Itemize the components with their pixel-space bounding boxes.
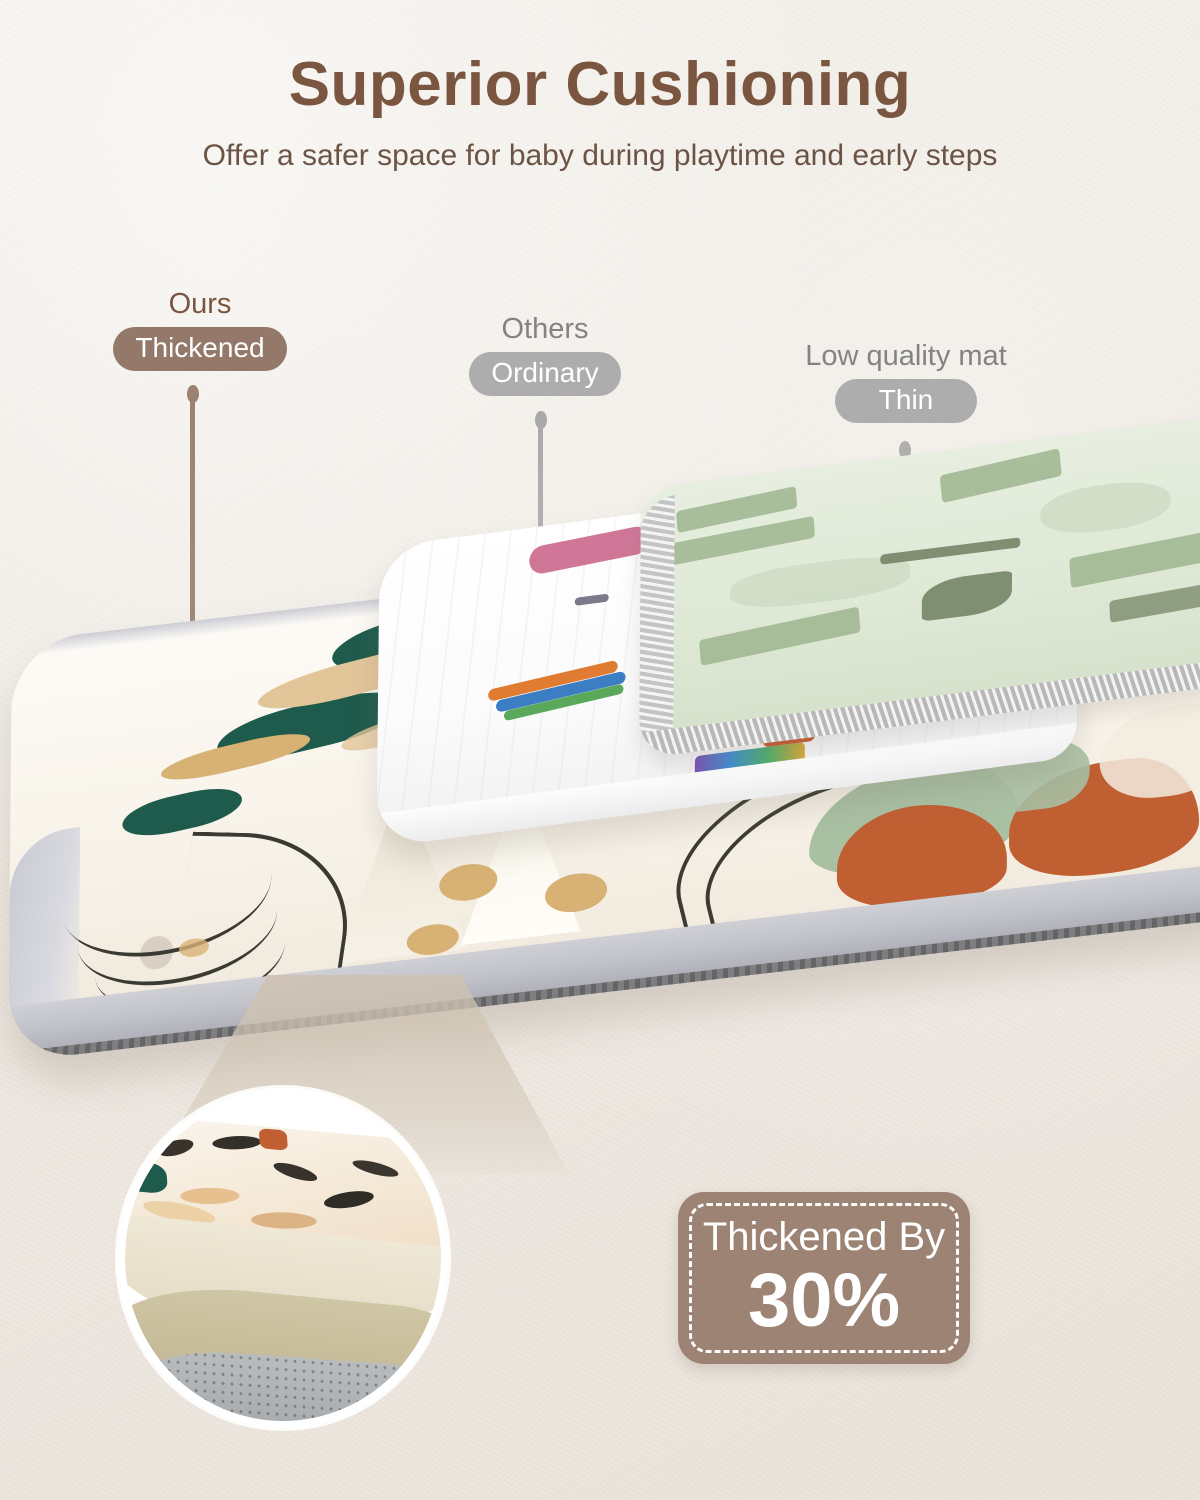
inset-circle-content: [125, 1095, 441, 1421]
badge-ordinary: Ordinary: [469, 352, 620, 396]
column-caption-low-quality: Low quality mat: [776, 340, 1036, 373]
comparison-column-ours: Ours Thickened: [102, 288, 298, 371]
pattern-leaf: [699, 606, 861, 665]
comparison-column-low-quality: Low quality mat Thin: [776, 340, 1036, 423]
column-caption-ours: Ours: [102, 288, 298, 321]
pattern-leaf: [1040, 477, 1170, 539]
layer-detail-inset: [118, 1088, 448, 1428]
mat-stack: [0, 430, 1200, 1050]
page-title: Superior Cushioning: [0, 52, 1200, 117]
pattern-leaf: [1099, 699, 1200, 804]
inset-circle-frame: [118, 1088, 448, 1428]
page-subtitle: Offer a safer space for baby during play…: [0, 139, 1200, 173]
pattern-leaf: [1109, 582, 1200, 623]
header: Superior Cushioning Offer a safer space …: [0, 0, 1200, 173]
column-caption-others: Others: [452, 313, 638, 346]
mat-low-left-binding: [639, 495, 675, 759]
thickened-by-badge: Thickened By 30%: [678, 1192, 970, 1364]
badge-thin: Thin: [835, 379, 977, 423]
comparison-column-others: Others Ordinary: [452, 313, 638, 396]
pattern-leaf: [922, 570, 1012, 621]
pattern-leaf: [1069, 529, 1200, 588]
badge-thickened: Thickened: [113, 327, 286, 371]
thickened-by-label: Thickened By: [703, 1217, 945, 1257]
pattern-leaf: [880, 537, 1020, 564]
thickened-by-value: 30%: [748, 1263, 900, 1339]
pattern-stroke: [171, 832, 361, 983]
pattern-leaf: [940, 448, 1062, 503]
